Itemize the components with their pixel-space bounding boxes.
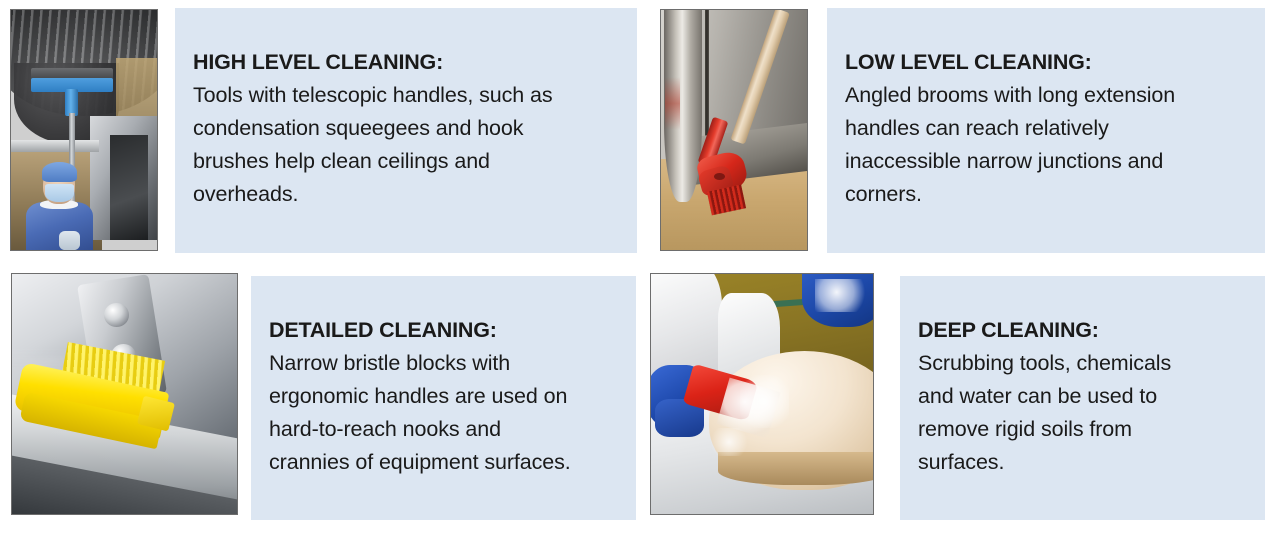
detailed-cleaning-line-4: crannies of equipment surfaces. (269, 446, 626, 479)
high-level-cleaning-heading: HIGH LEVEL CLEANING: (193, 46, 627, 79)
detailed-cleaning-text: DETAILED CLEANING: Narrow bristle blocks… (269, 314, 626, 479)
low-level-cleaning-line-3: inaccessible narrow junctions and (845, 145, 1255, 178)
low-level-cleaning-line-2: handles can reach relatively (845, 112, 1255, 145)
deep-cleaning-heading: DEEP CLEANING: (918, 314, 1255, 347)
high-level-cleaning-line-2: condensation squeegees and hook (193, 112, 627, 145)
detailed-cleaning-line-2: ergonomic handles are used on (269, 380, 626, 413)
detailed-cleaning-line-3: hard-to-reach nooks and (269, 413, 626, 446)
high-level-cleaning-photo (10, 9, 158, 251)
low-level-cleaning-line-1: Angled brooms with long extension (845, 79, 1255, 112)
high-level-cleaning-line-1: Tools with telescopic handles, such as (193, 79, 627, 112)
deep-cleaning-line-4: surfaces. (918, 446, 1255, 479)
deep-cleaning-panel: DEEP CLEANING: Scrubbing tools, chemical… (900, 276, 1265, 520)
detailed-cleaning-line-1: Narrow bristle blocks with (269, 347, 626, 380)
deep-cleaning-text: DEEP CLEANING: Scrubbing tools, chemical… (918, 314, 1255, 479)
high-level-cleaning-panel: HIGH LEVEL CLEANING: Tools with telescop… (175, 8, 637, 253)
high-level-cleaning-line-3: brushes help clean ceilings and (193, 145, 627, 178)
cleaning-levels-infographic: HIGH LEVEL CLEANING: Tools with telescop… (0, 0, 1277, 539)
low-level-cleaning-heading: LOW LEVEL CLEANING: (845, 46, 1255, 79)
low-level-cleaning-panel: LOW LEVEL CLEANING: Angled brooms with l… (827, 8, 1265, 253)
deep-cleaning-line-3: remove rigid soils from (918, 413, 1255, 446)
detailed-cleaning-photo (11, 273, 238, 515)
low-level-cleaning-text: LOW LEVEL CLEANING: Angled brooms with l… (845, 46, 1255, 211)
deep-cleaning-photo (650, 273, 874, 515)
high-level-cleaning-text: HIGH LEVEL CLEANING: Tools with telescop… (193, 46, 627, 211)
deep-cleaning-line-2: and water can be used to (918, 380, 1255, 413)
detailed-cleaning-panel: DETAILED CLEANING: Narrow bristle blocks… (251, 276, 636, 520)
low-level-cleaning-photo (660, 9, 808, 251)
high-level-cleaning-line-4: overheads. (193, 178, 627, 211)
deep-cleaning-line-1: Scrubbing tools, chemicals (918, 347, 1255, 380)
low-level-cleaning-line-4: corners. (845, 178, 1255, 211)
detailed-cleaning-heading: DETAILED CLEANING: (269, 314, 626, 347)
